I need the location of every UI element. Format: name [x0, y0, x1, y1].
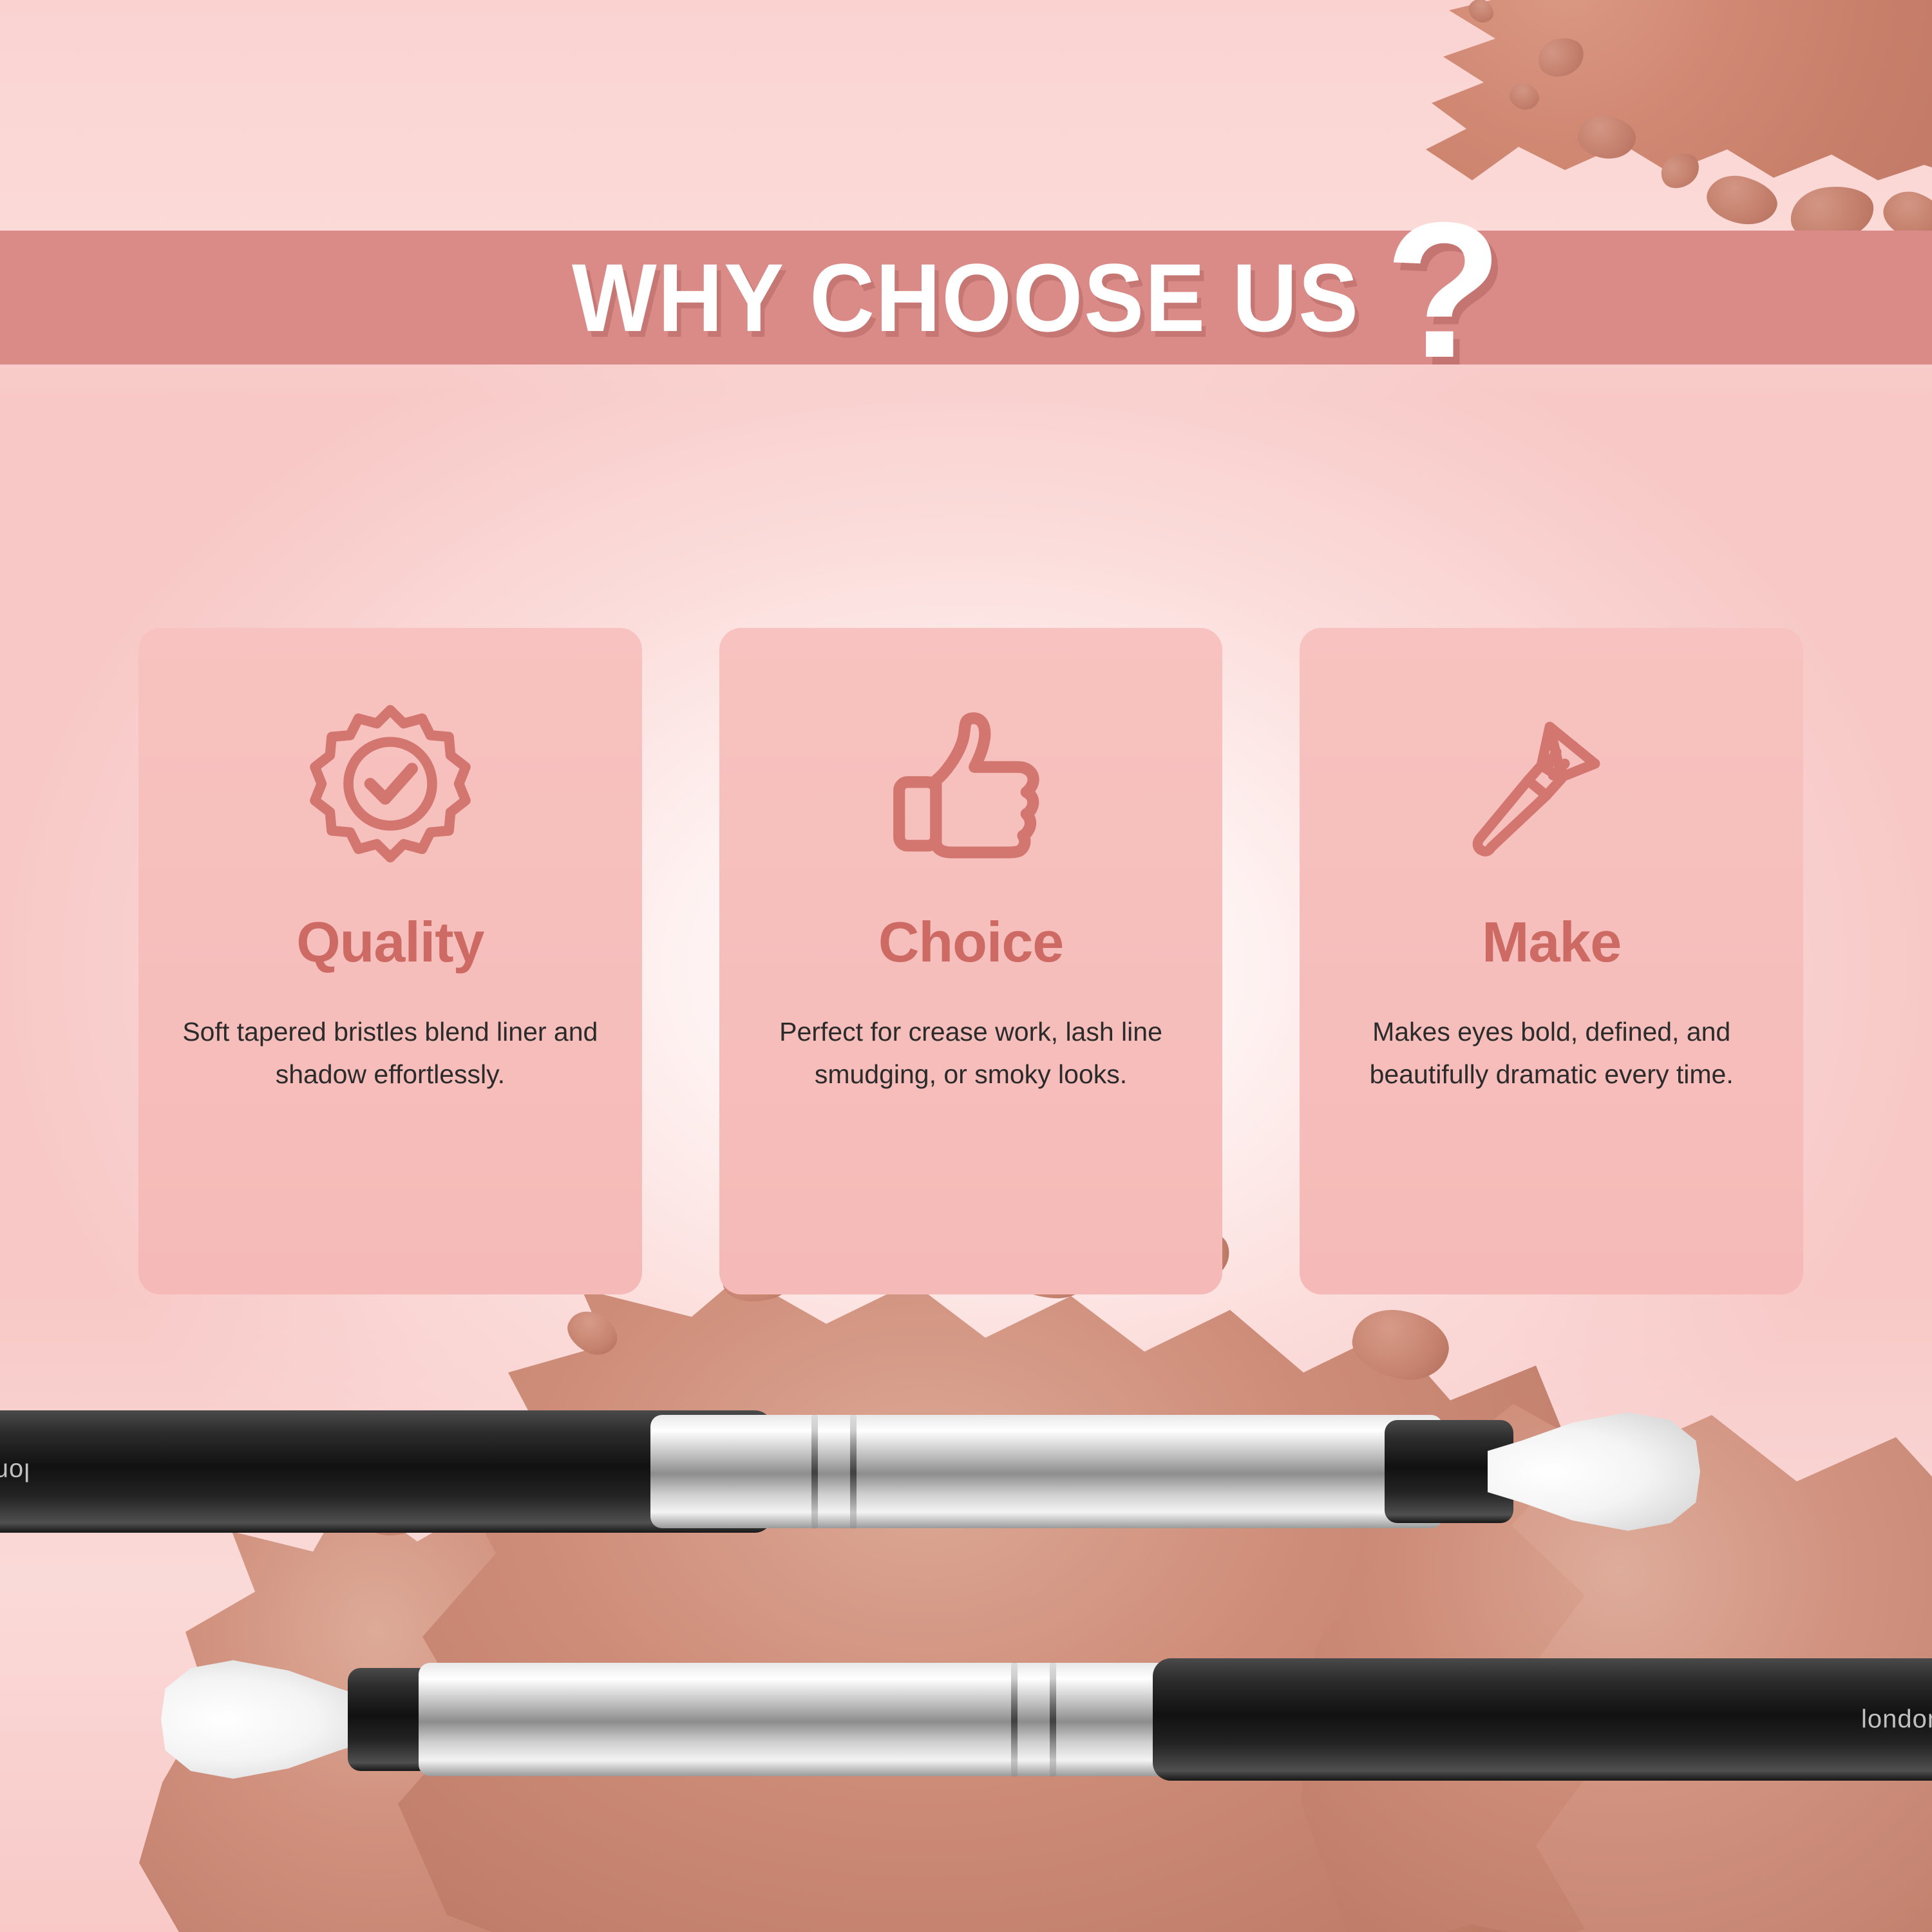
product-brush-top: london: [0, 1388, 1726, 1555]
brush-bristles: [161, 1655, 374, 1784]
card-body-text: Perfect for crease work, lash line smudg…: [759, 1010, 1184, 1096]
brush-bristles: [1488, 1407, 1700, 1536]
product-brush-bottom: london: [161, 1636, 1932, 1803]
card-title: Choice: [878, 914, 1063, 971]
brush-brand-label: london: [0, 1457, 30, 1486]
card-body-text: Makes eyes bold, defined, and beautifull…: [1339, 1010, 1764, 1096]
card-title: Quality: [296, 914, 484, 971]
poster-canvas: WHY CHOOSE US ? Quality Soft tapered bri…: [0, 0, 1932, 1932]
brush-ferrule-ring: [850, 1414, 857, 1529]
question-mark-glyph: ?: [1385, 193, 1502, 386]
brush-ferrule-ring: [811, 1414, 818, 1529]
brush-ferrule: [650, 1415, 1443, 1528]
background-bottom-tint: [0, 1288, 1932, 1932]
makeup-brush-icon: [1468, 700, 1635, 867]
quality-badge-check-icon: [307, 700, 474, 867]
brush-handle: [1153, 1658, 1932, 1781]
page-title: WHY CHOOSE US: [572, 249, 1359, 346]
thumbs-up-icon: [887, 700, 1055, 867]
feature-card-make[interactable]: Make Makes eyes bold, defined, and beaut…: [1300, 628, 1803, 1294]
feature-card-quality[interactable]: Quality Soft tapered bristles blend line…: [138, 628, 642, 1294]
card-body-text: Soft tapered bristles blend liner and sh…: [178, 1010, 603, 1096]
card-title: Make: [1482, 914, 1621, 971]
brush-ferrule-ring: [1050, 1662, 1056, 1777]
feature-card-choice[interactable]: Choice Perfect for crease work, lash lin…: [719, 628, 1223, 1294]
brush-ferrule-ring: [1011, 1662, 1018, 1777]
feature-card-list: Quality Soft tapered bristles blend line…: [138, 628, 1803, 1294]
brush-ferrule: [419, 1663, 1211, 1776]
header-banner: WHY CHOOSE US: [0, 231, 1932, 365]
brush-brand-label: london: [1861, 1705, 1932, 1734]
